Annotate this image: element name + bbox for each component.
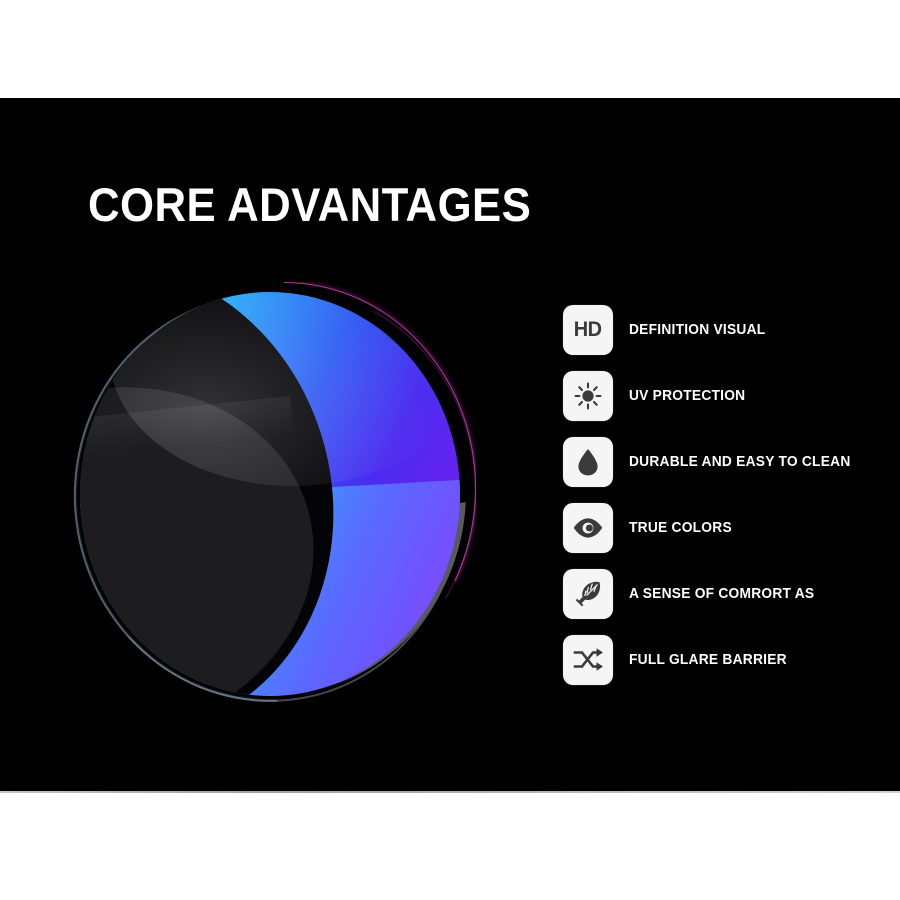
feature-label-definition-visual: DEFINITION VISUAL bbox=[629, 322, 765, 338]
feature-label-durable-easy-clean: DURABLE AND EASY TO CLEAN bbox=[629, 454, 851, 470]
feature-item-definition-visual: HD DEFINITION VISUAL bbox=[563, 305, 873, 355]
content-panel: CORE ADVANTAGES HD bbox=[0, 98, 900, 791]
hd-badge-icon: HD bbox=[563, 305, 613, 355]
lens-product-image bbox=[70, 276, 480, 716]
feature-item-durable-easy-clean: DURABLE AND EASY TO CLEAN bbox=[563, 437, 873, 487]
feature-item-sense-of-comfort: A SENSE OF COMRORT AS bbox=[563, 569, 873, 619]
panel-bottom-edge bbox=[0, 791, 900, 793]
feature-item-full-glare-barrier: FULL GLARE BARRIER bbox=[563, 635, 873, 685]
water-drop-icon bbox=[563, 437, 613, 487]
feature-list: HD DEFINITION VISUAL bbox=[563, 305, 873, 701]
page-title: CORE ADVANTAGES bbox=[88, 181, 531, 228]
eye-icon bbox=[563, 503, 613, 553]
sun-icon bbox=[563, 371, 613, 421]
shuffle-arrows-icon bbox=[563, 635, 613, 685]
feature-label-sense-of-comfort: A SENSE OF COMRORT AS bbox=[629, 586, 814, 602]
feature-label-uv-protection: UV PROTECTION bbox=[629, 388, 745, 404]
feature-item-uv-protection: UV PROTECTION bbox=[563, 371, 873, 421]
hd-badge-label: HD bbox=[574, 318, 602, 342]
feature-item-true-colors: TRUE COLORS bbox=[563, 503, 873, 553]
feature-label-full-glare-barrier: FULL GLARE BARRIER bbox=[629, 652, 787, 668]
feature-label-true-colors: TRUE COLORS bbox=[629, 520, 732, 536]
feather-icon bbox=[563, 569, 613, 619]
page-frame: CORE ADVANTAGES HD bbox=[0, 0, 900, 900]
